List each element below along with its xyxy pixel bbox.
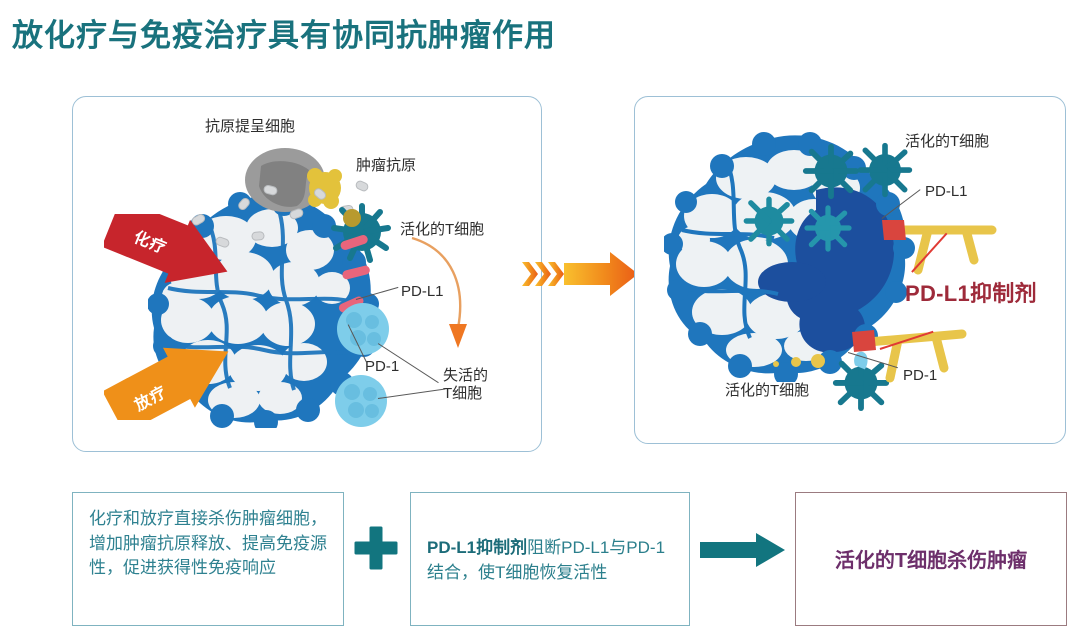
summary-box-2-bold: PD-L1抑制剂	[427, 538, 527, 557]
radiotherapy-arrow	[104, 338, 240, 420]
inactivated-tcell-2	[330, 372, 392, 430]
infiltrating-tcell-1	[800, 140, 862, 202]
tcell-deactivation-arrow	[408, 232, 478, 362]
summary-box-2-text: PD-L1抑制剂阻断PD-L1与PD-1结合，使T细胞恢复活性	[427, 536, 673, 585]
antibody-particles	[770, 352, 840, 374]
summary-box-1-text: 化疗和放疗直接杀伤肿瘤细胞，增加肿瘤抗原释放、提高免疫源性，促进获得性免疫响应	[89, 507, 327, 581]
label-pd1-left: PD-1	[365, 358, 399, 376]
label-apc: 抗原提呈细胞	[205, 118, 295, 136]
infiltrating-tcell-3	[800, 200, 856, 256]
infiltrating-tcell-2	[740, 192, 798, 250]
pdl1-antibody-top	[882, 214, 1012, 280]
slide-canvas: 放化疗与免疫治疗具有协同抗肿瘤作用	[0, 0, 1080, 631]
label-pdl1-right: PD-L1	[925, 183, 968, 201]
result-arrow-icon	[700, 532, 786, 568]
summary-box-inhibitor: PD-L1抑制剂阻断PD-L1与PD-1结合，使T细胞恢复活性	[410, 492, 690, 626]
transition-arrow	[520, 246, 640, 302]
chemotherapy-arrow	[104, 214, 234, 294]
label-activated-tcell-right-bottom: 活化的T细胞	[725, 382, 809, 400]
label-tumor-antigen: 肿瘤抗原	[356, 157, 416, 175]
label-pdl1-inhibitor: PD-L1抑制剂	[905, 276, 1037, 308]
summary-box-chemo-radio: 化疗和放疗直接杀伤肿瘤细胞，增加肿瘤抗原释放、提高免疫源性，促进获得性免疫响应	[72, 492, 344, 626]
summary-box-outcome: 活化的T细胞杀伤肿瘤	[795, 492, 1067, 626]
label-pd1-right: PD-1	[903, 367, 937, 385]
label-activated-tcell-right-top: 活化的T细胞	[905, 133, 989, 151]
label-inactivated-tcell: 失活的 T细胞	[443, 367, 488, 404]
page-title: 放化疗与免疫治疗具有协同抗肿瘤作用	[12, 8, 912, 56]
summary-box-3-text: 活化的T细胞杀伤肿瘤	[835, 548, 1027, 574]
plus-icon	[354, 526, 398, 570]
